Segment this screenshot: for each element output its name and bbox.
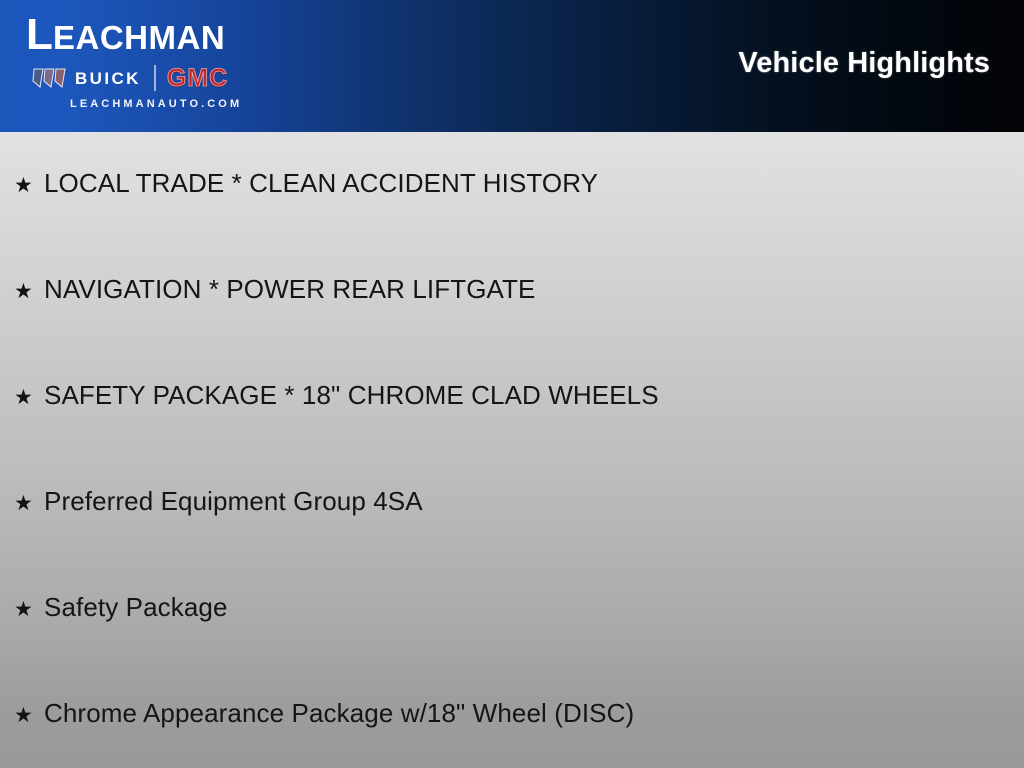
- brand-row: BUICK GMC: [32, 64, 290, 92]
- brand-divider: [154, 65, 156, 91]
- star-icon: ★: [14, 705, 44, 726]
- list-item-label: Safety Package: [44, 594, 228, 621]
- star-icon: ★: [14, 281, 44, 302]
- list-item: ★ SAFETY PACKAGE * 18" CHROME CLAD WHEEL…: [14, 382, 659, 409]
- list-item: ★ Chrome Appearance Package w/18" Wheel …: [14, 700, 634, 727]
- list-item: ★ Safety Package: [14, 594, 228, 621]
- list-item: ★ LOCAL TRADE * CLEAN ACCIDENT HISTORY: [14, 170, 598, 197]
- star-icon: ★: [14, 493, 44, 514]
- dealer-website-label: LEACHMANAUTO.COM: [70, 98, 242, 110]
- gmc-label: GMC: [167, 66, 228, 91]
- buick-label: BUICK: [75, 70, 141, 87]
- list-item-label: Chrome Appearance Package w/18" Wheel (D…: [44, 700, 634, 727]
- star-icon: ★: [14, 175, 44, 196]
- dealer-logo[interactable]: L EACHMAN BUICK GMC LEACHMANAUTO.COM: [26, 12, 294, 122]
- svg-text:L: L: [26, 12, 53, 58]
- vehicle-highlights-list: ★ LOCAL TRADE * CLEAN ACCIDENT HISTORY ★…: [0, 132, 1024, 768]
- list-item-label: Preferred Equipment Group 4SA: [44, 488, 423, 515]
- dealer-banner: L EACHMAN BUICK GMC LEACHMANAUTO.COM: [0, 0, 1024, 132]
- vehicle-highlights-slide: L EACHMAN BUICK GMC LEACHMANAUTO.COM: [0, 0, 1024, 768]
- svg-text:EACHMAN: EACHMAN: [53, 19, 225, 56]
- star-icon: ★: [14, 387, 44, 408]
- page-title: Vehicle Highlights: [738, 47, 990, 80]
- leachman-wordmark-icon: L EACHMAN: [26, 12, 284, 58]
- buick-tri-shield-icon: [32, 67, 68, 89]
- list-item-label: NAVIGATION * POWER REAR LIFTGATE: [44, 276, 535, 303]
- list-item: ★ Preferred Equipment Group 4SA: [14, 488, 423, 515]
- list-item-label: SAFETY PACKAGE * 18" CHROME CLAD WHEELS: [44, 382, 659, 409]
- list-item-label: LOCAL TRADE * CLEAN ACCIDENT HISTORY: [44, 170, 598, 197]
- list-item: ★ NAVIGATION * POWER REAR LIFTGATE: [14, 276, 535, 303]
- star-icon: ★: [14, 599, 44, 620]
